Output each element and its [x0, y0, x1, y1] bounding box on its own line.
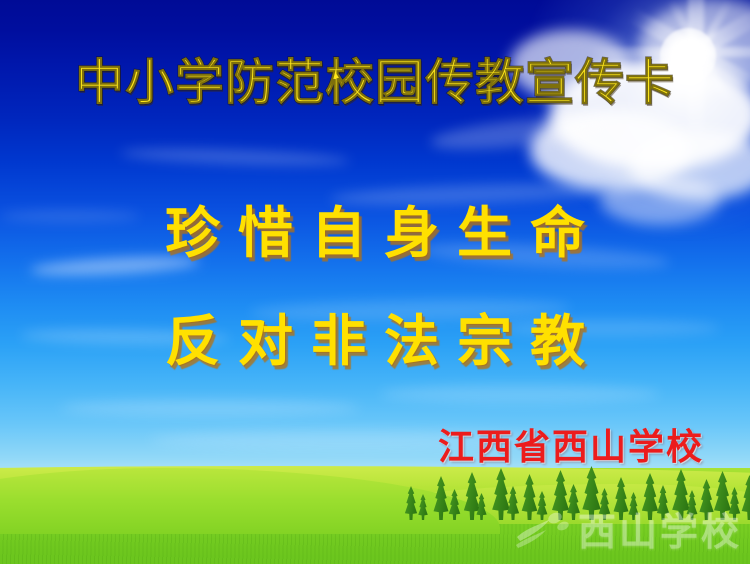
- watermark-text: 西山学校: [578, 501, 742, 556]
- school-name: 江西省西山学校: [438, 418, 704, 470]
- slogan-line-2: 反对非法宗教: [0, 296, 750, 376]
- propaganda-poster: 中小学防范校园传教宣传卡 珍惜自身生命 反对非法宗教 江西省西山学校 西山学校: [0, 0, 750, 564]
- cypress-tree: [416, 494, 430, 520]
- school-logo-icon: [514, 507, 570, 551]
- watermark: 西山学校: [514, 501, 742, 556]
- cirrus-cloud: [120, 146, 350, 168]
- cirrus-cloud: [60, 400, 360, 416]
- slogan-line-1: 珍惜自身生命: [0, 188, 750, 268]
- cypress-tree: [474, 493, 489, 520]
- page-title: 中小学防范校园传教宣传卡: [0, 58, 750, 108]
- cirrus-cloud: [380, 385, 660, 403]
